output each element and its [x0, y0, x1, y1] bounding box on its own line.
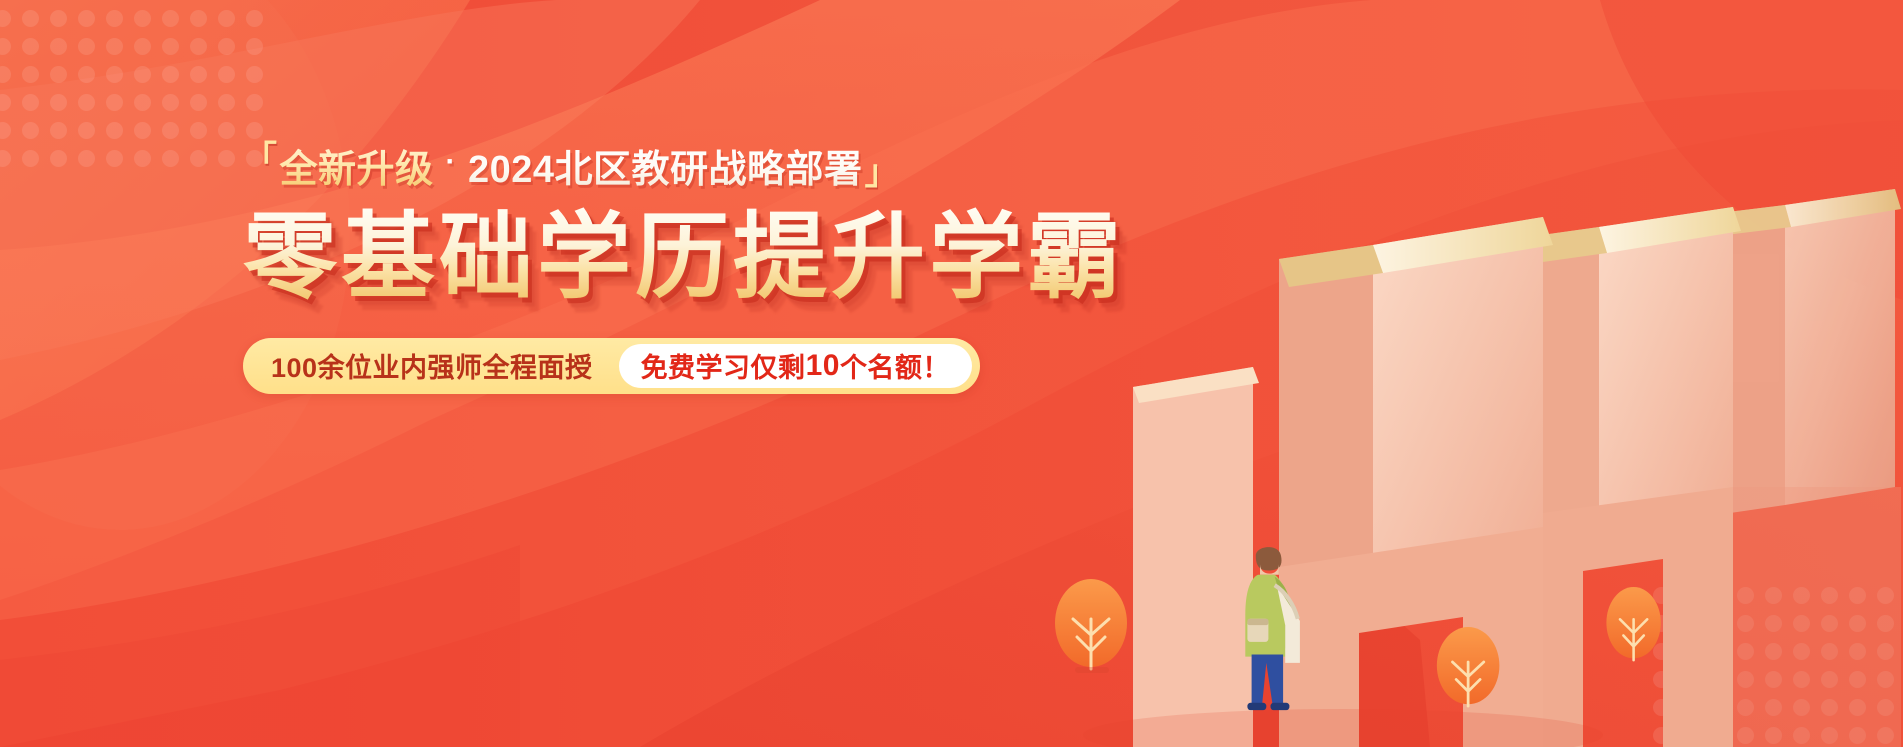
book-arch-front [1133, 367, 1259, 747]
tree-icon [1606, 587, 1660, 660]
offer-pill-left-label: 100余位业内强师全程面授 [271, 346, 619, 385]
book-arch-3 [1513, 207, 1741, 747]
bracket-open: 「 [243, 142, 278, 176]
tree-icon [1055, 579, 1127, 673]
banner-copy: 「 全新升级 · 2024北区教研战略部署 」 零基础学历提升学霸班 100余位… [243, 138, 1123, 394]
offer-prefix: 免费学习仅剩 [641, 346, 806, 385]
promo-banner: 「 全新升级 · 2024北区教研战略部署 」 零基础学历提升学霸班 100余位… [0, 0, 1903, 747]
bracket-close: 」 [865, 156, 900, 190]
offer-pill: 100余位业内强师全程面授 免费学习仅剩10个名额！ [243, 338, 980, 394]
offer-pill-right-badge[interactable]: 免费学习仅剩10个名额！ [619, 344, 972, 388]
offer-count: 10 [806, 349, 840, 383]
book-arch-2 [1279, 217, 1553, 747]
subtitle-highlight: 全新升级 [278, 138, 436, 193]
offer-suffix: 个名额！ [840, 346, 950, 385]
banner-title: 零基础学历提升学霸班 [243, 206, 1123, 308]
dot-grid-icon [0, 10, 234, 170]
subtitle-separator: · [446, 145, 457, 179]
banner-subtitle: 「 全新升级 · 2024北区教研战略部署 」 [243, 138, 1123, 192]
subtitle-main: 2024北区教研战略部署 [466, 138, 865, 193]
